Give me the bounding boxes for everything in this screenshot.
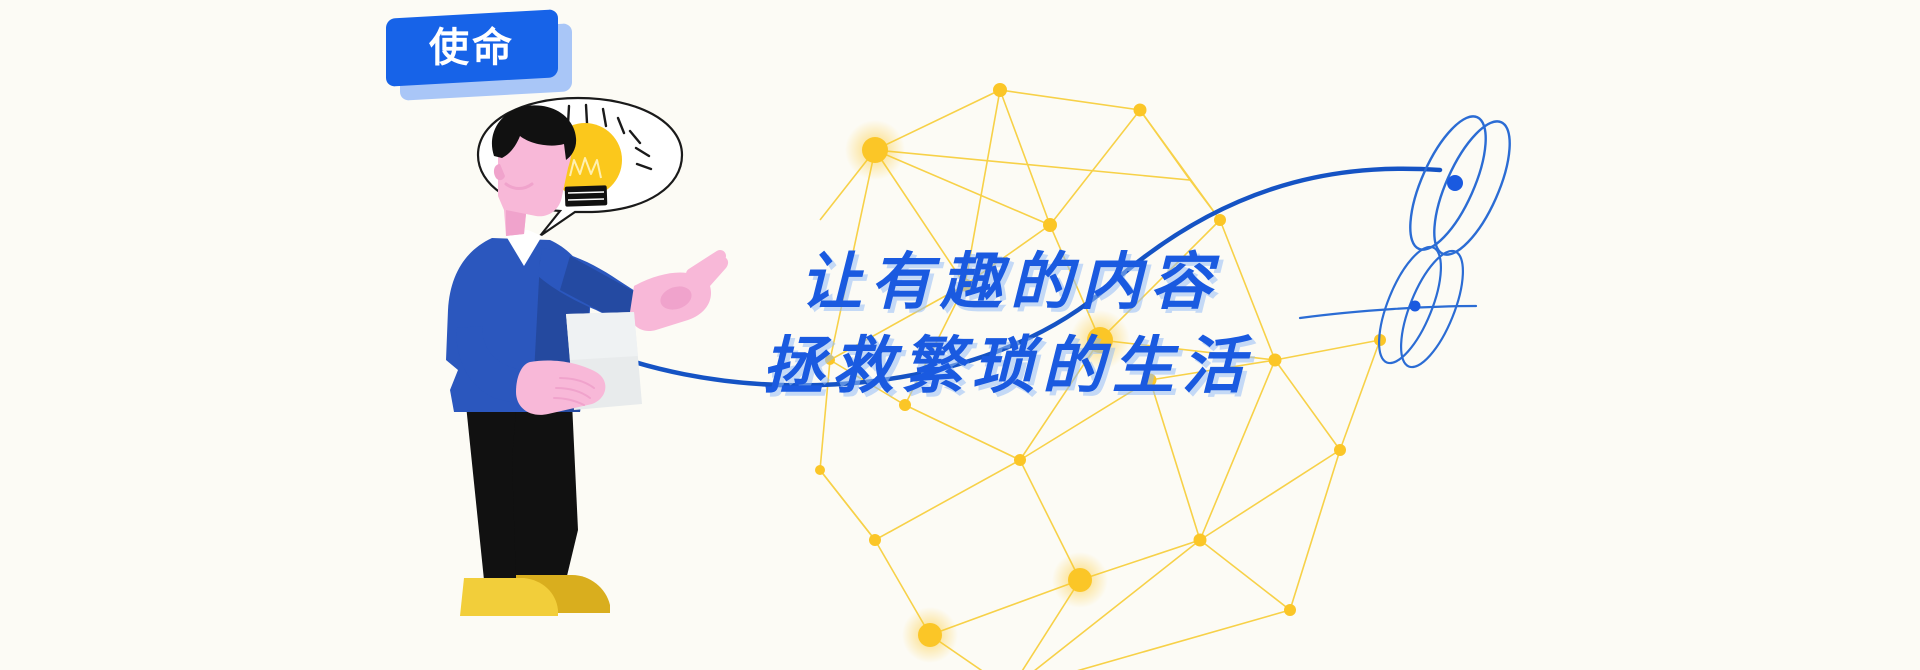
orbit-curve-dot bbox=[549, 321, 567, 339]
bulb-rays bbox=[550, 105, 651, 169]
mission-badge[interactable]: 使命 bbox=[386, 14, 572, 98]
bulb-base bbox=[565, 185, 608, 206]
mission-badge-face: 使命 bbox=[386, 9, 558, 87]
person-holding-hand bbox=[516, 360, 605, 414]
person-head bbox=[492, 105, 576, 236]
person-pointing-arm bbox=[538, 248, 646, 328]
orbit-ring-upper-dot bbox=[1447, 175, 1463, 191]
idea-speech-bubble bbox=[478, 98, 682, 236]
person-collar bbox=[506, 230, 542, 266]
person-pointing-hand bbox=[630, 256, 728, 331]
person-tablet bbox=[566, 312, 642, 410]
headline: 让有趣的内容 拯救繁琐的生活 bbox=[800, 240, 1560, 407]
person-hair bbox=[492, 105, 576, 160]
headline-line-1: 让有趣的内容 bbox=[800, 240, 1560, 324]
mission-badge-label: 使命 bbox=[429, 28, 515, 68]
bulb-glass bbox=[548, 123, 622, 197]
person-shoes bbox=[460, 575, 610, 616]
person-shirt bbox=[446, 230, 590, 412]
mission-banner: 使命 bbox=[0, 0, 1920, 670]
headline-line-2: 拯救繁琐的生活 bbox=[762, 324, 1560, 408]
illustration-man-pointing bbox=[420, 60, 760, 670]
person-holding-arm bbox=[456, 326, 605, 415]
bulb-filament bbox=[570, 158, 601, 178]
person-legs bbox=[460, 315, 578, 580]
